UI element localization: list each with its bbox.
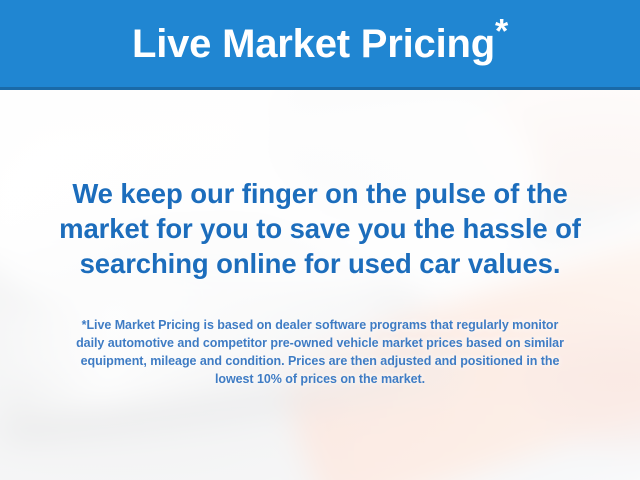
disclaimer-line-3: equipment, mileage and condition. Prices… bbox=[0, 352, 640, 370]
page-title: Live Market Pricing* bbox=[132, 24, 508, 64]
page-title-text: Live Market Pricing bbox=[132, 22, 495, 66]
disclaimer-block: *Live Market Pricing is based on dealer … bbox=[0, 316, 640, 388]
headline-line-3: searching online for used car values. bbox=[0, 246, 640, 281]
headline-line-1: We keep our finger on the pulse of the bbox=[0, 176, 640, 211]
disclaimer-line-1: *Live Market Pricing is based on dealer … bbox=[0, 316, 640, 334]
headline-line-2: market for you to save you the hassle of bbox=[0, 211, 640, 246]
page-title-asterisk: * bbox=[495, 12, 508, 50]
disclaimer-line-4: lowest 10% of prices on the market. bbox=[0, 370, 640, 388]
header-band: Live Market Pricing* bbox=[0, 0, 640, 90]
live-market-pricing-banner: Live Market Pricing* We keep our finger … bbox=[0, 0, 640, 480]
headline-block: We keep our finger on the pulse of the m… bbox=[0, 176, 640, 281]
disclaimer-line-2: daily automotive and competitor pre-owne… bbox=[0, 334, 640, 352]
